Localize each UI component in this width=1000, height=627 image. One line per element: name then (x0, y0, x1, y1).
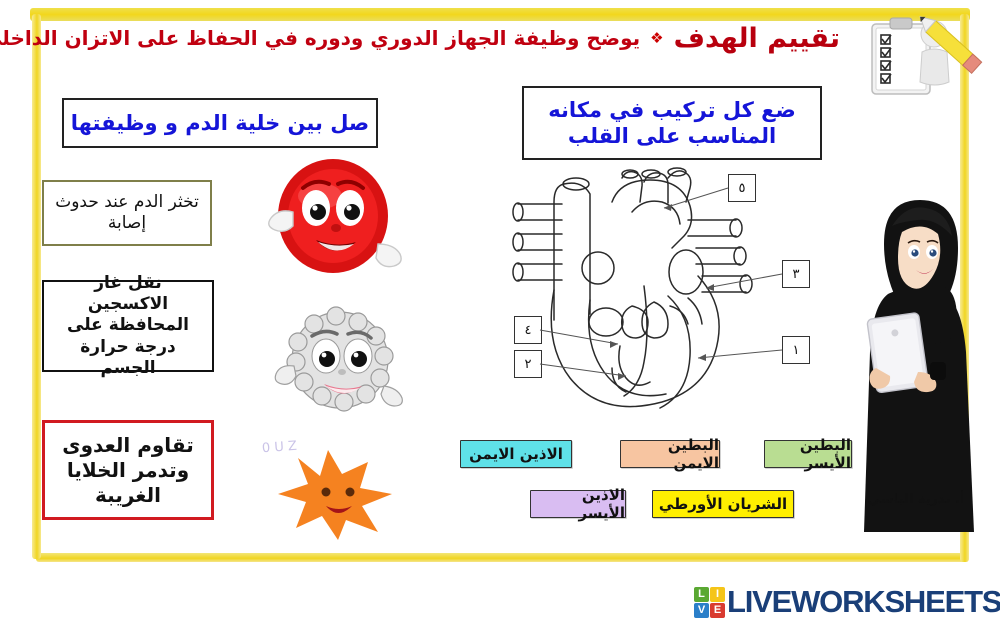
logo-tile-l: L (694, 587, 709, 602)
function-box-immunity[interactable]: تقاوم العدوى وتدمر الخلايا الغريبة (42, 420, 214, 520)
white-blood-cell-character[interactable] (266, 300, 414, 420)
logo-wordmark: LIVEWORKSHEETS (727, 584, 1000, 620)
platelet-character[interactable] (268, 440, 402, 544)
function-box-oxygen[interactable]: نقل غاز الاكسجين المحافظة على درجة حرارة… (42, 280, 214, 372)
diamond-bullet-icon: ❖ (650, 31, 663, 46)
right-section-title-line2: المناسب على القلب (568, 123, 776, 149)
frame-border-left (32, 14, 41, 559)
chip-aorta[interactable]: الشريان الأورطي (652, 490, 794, 518)
teacher-avatar-with-tablet (848, 186, 984, 538)
clipboard-checklist-pencil-icon (862, 8, 986, 100)
left-section-title-box: صل بين خلية الدم و وظيفتها (62, 98, 378, 148)
chip-right-atrium[interactable]: الاذين الايمن (460, 440, 572, 468)
logo-tile-i: I (710, 587, 725, 602)
left-section-title: صل بين خلية الدم و وظيفتها (71, 111, 369, 135)
logo-tile-v: V (694, 603, 709, 618)
red-blood-cell-character[interactable] (258, 152, 408, 280)
frame-border-bottom (36, 553, 966, 562)
right-section-title-box: ضع كل تركيب في مكانه المناسب على القلب (522, 86, 822, 160)
function-box-clotting[interactable]: تخثر الدم عند حدوث إصابة (42, 180, 212, 246)
objective-text: يوضح وظيفة الجهاز الدوري ودوره في الحفاظ… (0, 26, 640, 50)
chip-right-ventricle[interactable]: البطين الايمن (620, 440, 720, 468)
watermark-text: 0 U Z (262, 439, 298, 456)
chip-left-atrium[interactable]: الاذين الأيسر (530, 490, 626, 518)
heart-diagram-area: ٥ ٣ ١ ٤ ٢ (492, 160, 832, 422)
function-box-immunity-label: تقاوم العدوى وتدمر الخلايا الغريبة (53, 433, 203, 508)
header-bar: تقييم الهدف ❖ يوضح وظيفة الجهاز الدوري و… (140, 10, 860, 66)
page-title: تقييم الهدف (674, 23, 840, 54)
function-box-clotting-label: تخثر الدم عند حدوث إصابة (52, 192, 202, 235)
function-box-oxygen-label: نقل غاز الاكسجين المحافظة على درجة حرارة… (52, 273, 204, 379)
logo-tile-e: E (710, 603, 725, 618)
teacher-name-label: أ. بدرية الياسي (856, 492, 976, 507)
liveworksheets-logo[interactable]: L I V E LIVEWORKSHEETS (694, 584, 1000, 620)
logo-tiles: L I V E (694, 587, 725, 618)
chip-left-ventricle[interactable]: البطين الأيسر (764, 440, 852, 468)
right-section-title-line1: ضع كل تركيب في مكانه (548, 97, 796, 123)
callout-leader-lines (492, 160, 832, 422)
